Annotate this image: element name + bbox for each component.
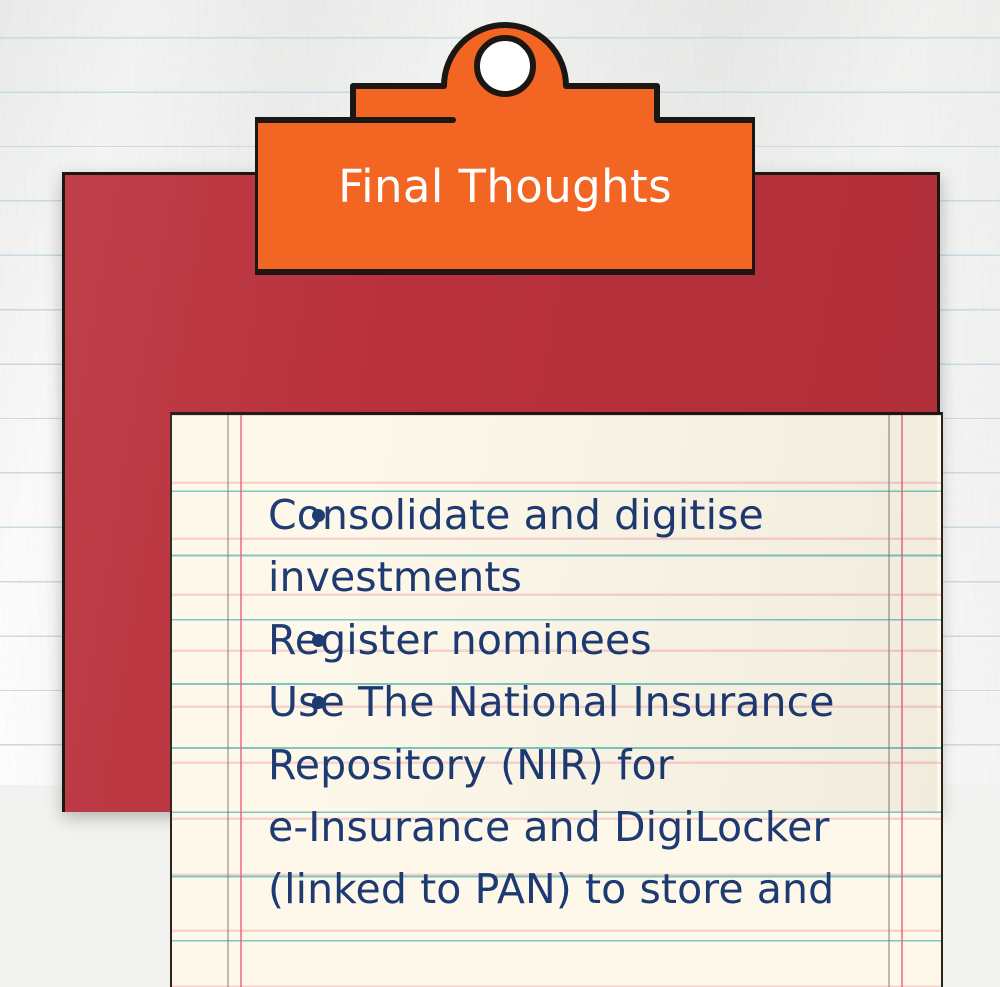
page-title: Final Thoughts [255, 160, 755, 213]
note-line-text: Use The National Insurance [268, 678, 835, 726]
margin-line-right-pink [901, 415, 903, 987]
list-item: Consolidate and digitise [268, 484, 883, 546]
margin-line-left-grey [227, 415, 229, 987]
margin-line-left-pink [240, 415, 242, 987]
list-item-continuation: (linked to PAN) to store and [268, 858, 883, 920]
bullet-icon [312, 509, 325, 522]
list-item-continuation: e-Insurance and DigiLocker [268, 796, 883, 858]
list-item: Use The National Insurance [268, 671, 883, 733]
bullet-icon [312, 634, 325, 647]
note-line-text: (linked to PAN) to store and [268, 865, 834, 913]
note-line-text: investments [268, 553, 522, 601]
note-line-text: Repository (NIR) for [268, 741, 674, 789]
list-item-continuation: investments [268, 546, 883, 608]
clipboard-clip: Final Thoughts [255, 8, 755, 280]
note-line-text: Consolidate and digitise [268, 491, 764, 539]
list-item-continuation: Repository (NIR) for [268, 734, 883, 796]
note-line-text: e-Insurance and DigiLocker [268, 803, 829, 851]
clip-hole-icon [477, 38, 533, 94]
margin-line-right-grey [888, 415, 890, 987]
note-line-text: Register nominees [268, 616, 652, 664]
clip-shape-icon [255, 8, 755, 280]
notes-list: Consolidate and digitise investments Reg… [268, 415, 883, 987]
clipboard-paper-sheet: Consolidate and digitise investments Reg… [170, 412, 943, 987]
list-item: Register nominees [268, 609, 883, 671]
